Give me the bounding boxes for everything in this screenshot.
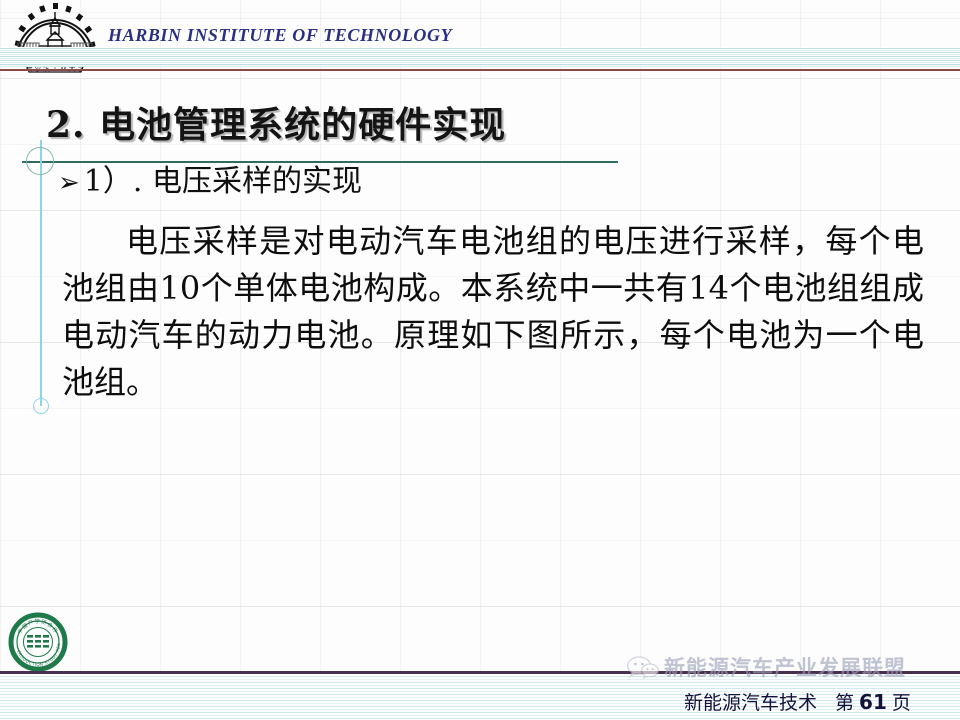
course-name-label: 新能源汽车技术 (684, 688, 817, 715)
slide-canvas: 1920 哈 尔 滨 工 业 大 学 HARBIN INSTITUTE OF T… (0, 0, 960, 720)
bullet-item-label: 1）. 电压采样的实现 (84, 166, 362, 198)
header-divider-rule (0, 69, 960, 71)
alliance-watermark: 新能源汽车产业发展联盟 (626, 652, 906, 682)
page-prefix-label: 第 (835, 688, 854, 715)
body-paragraph: 电压采样是对电动汽车电池组的电压进行采样，每个电池组由10个单体电池构成。本系统… (62, 218, 924, 406)
content-vertical-accent-line (40, 140, 42, 406)
watermark-label: 新能源汽车产业发展联盟 (664, 652, 906, 682)
bullet-list-item: ➢ 1）. 电压采样的实现 (58, 166, 362, 198)
green-circular-seal-icon: 中国产学研合作 PRODUCTION STUDY RESEARCH (8, 612, 68, 672)
title-underline-rule (22, 161, 618, 163)
page-number: 61 (859, 690, 887, 714)
arrowhead-bullet-icon: ➢ (58, 170, 80, 196)
institution-name: HARBIN INSTITUTE OF TECHNOLOGY (108, 25, 452, 46)
page-suffix-label: 页 (892, 688, 911, 715)
slide-header-banner: 1920 哈 尔 滨 工 业 大 学 HARBIN INSTITUTE OF T… (0, 0, 960, 76)
accent-circle-top (26, 147, 54, 175)
wechat-bubble-icon (626, 655, 660, 679)
accent-circle-bottom (33, 398, 49, 414)
page-title: 2. 电池管理系统的硬件实现 (46, 96, 506, 148)
footer-info: 新能源汽车技术 第 61 页 (684, 688, 911, 715)
header-stripe-band (0, 47, 960, 67)
